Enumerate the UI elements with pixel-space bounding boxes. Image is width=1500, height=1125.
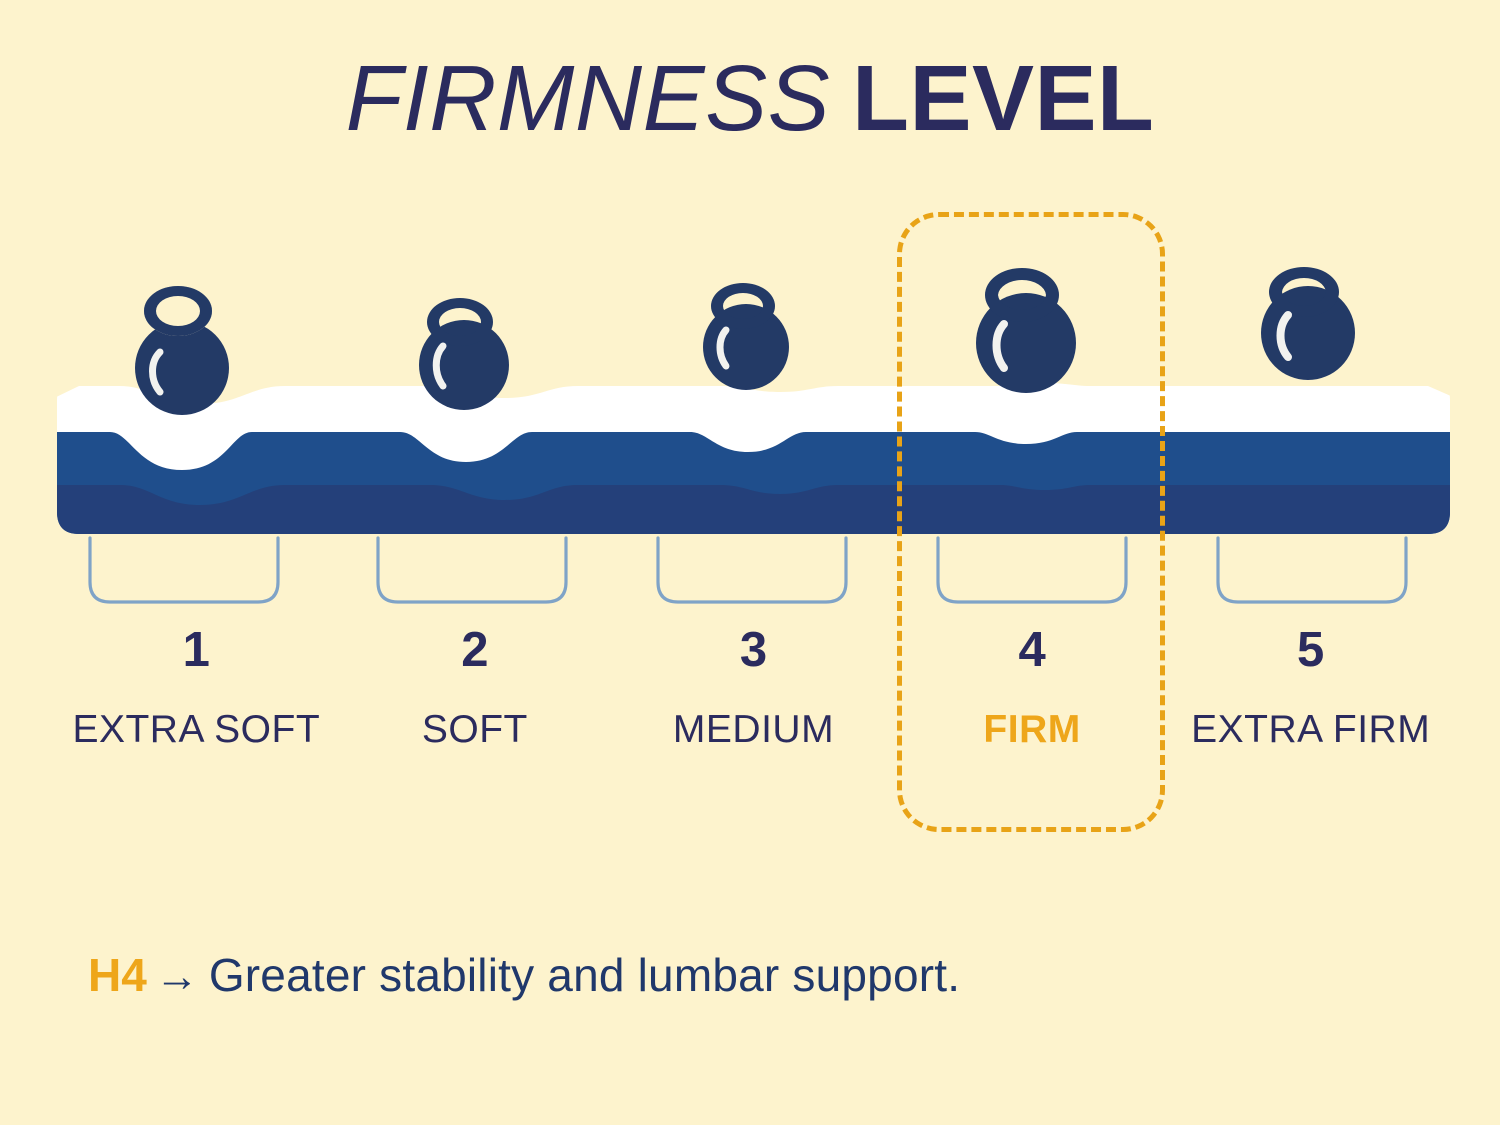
level-brackets: [90, 538, 1406, 602]
title-word-firmness: FIRMNESS: [346, 46, 831, 150]
scale-level-5[interactable]: 5 EXTRA FIRM: [1171, 626, 1450, 836]
kettlebell-highlight-2: [436, 346, 443, 386]
arrow-right-icon: →: [155, 952, 199, 1001]
level-name: SOFT: [336, 700, 615, 760]
bracket-1: [90, 538, 278, 602]
bracket-5: [1218, 538, 1406, 602]
mattress-surface-outline: [50, 360, 1460, 404]
kettlebell-icon-level-2: [419, 298, 509, 410]
mattress-body: [50, 370, 1460, 560]
caption: H4→Greater stability and lumbar support.: [88, 952, 960, 999]
scale-level-4[interactable]: 4 FIRM: [893, 626, 1172, 836]
scale-level-3[interactable]: 3 MEDIUM: [614, 626, 893, 836]
kettlebell-highlight-3: [720, 330, 726, 366]
bracket-2: [378, 538, 566, 602]
page-title: FIRMNESSLEVEL: [0, 52, 1500, 145]
level-number: 4: [893, 626, 1172, 675]
mattress-top-layer: [50, 370, 1460, 545]
firmness-scale-labels: 1 EXTRA SOFT 2 SOFT 3 MEDIUM 4 FIRM 5 EX…: [57, 626, 1450, 836]
caption-description: Greater stability and lumbar support.: [209, 949, 960, 1001]
kettlebell-highlight-1: [153, 352, 161, 392]
level-name: EXTRA SOFT: [57, 700, 336, 760]
scale-level-1[interactable]: 1 EXTRA SOFT: [57, 626, 336, 836]
kettlebell-icon-level-5: [1261, 267, 1355, 380]
caption-code-badge: H4: [88, 949, 147, 1001]
level-name: EXTRA FIRM: [1171, 700, 1450, 760]
mattress-mid-layer: [50, 432, 1460, 560]
kettlebell-highlight-5: [1281, 315, 1289, 357]
bracket-3: [658, 538, 846, 602]
firmness-level-infographic: FIRMNESSLEVEL: [0, 0, 1500, 1125]
level-name: MEDIUM: [614, 700, 893, 760]
mattress-base-layer: [50, 485, 1460, 560]
level-number: 1: [57, 626, 336, 675]
kettlebell-icon-level-1: [135, 286, 229, 415]
level-name: FIRM: [893, 700, 1172, 760]
kettlebell-icon-level-3: [703, 283, 789, 390]
level-number: 2: [336, 626, 615, 675]
scale-level-2[interactable]: 2 SOFT: [336, 626, 615, 836]
level-number: 3: [614, 626, 893, 675]
title-word-level: LEVEL: [852, 46, 1154, 150]
level-number: 5: [1171, 626, 1450, 675]
